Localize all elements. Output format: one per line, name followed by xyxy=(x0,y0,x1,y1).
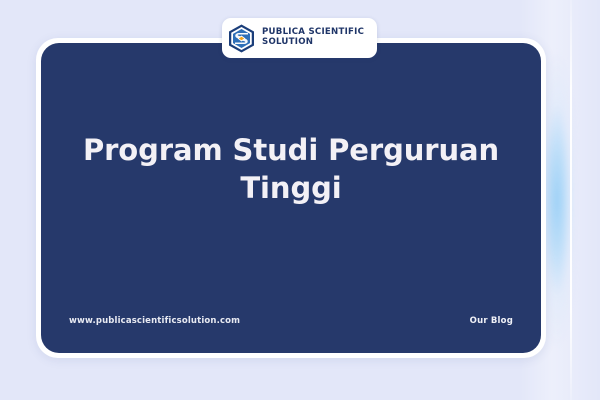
our-blog-link[interactable]: Our Blog xyxy=(470,316,513,326)
page-title: Program Studi Perguruan Tinggi xyxy=(75,131,507,208)
slide-canvas: Program Studi Perguruan Tinggi www.publi… xyxy=(0,0,600,400)
brand-name-line-2: SOLUTION xyxy=(262,38,364,48)
hexagon-swoosh-logo-icon xyxy=(228,24,255,53)
card-footer: www.publicascientificsolution.com Our Bl… xyxy=(41,297,541,353)
website-url[interactable]: www.publicascientificsolution.com xyxy=(69,316,240,326)
background-vertical-hairline xyxy=(570,0,572,400)
title-container: Program Studi Perguruan Tinggi xyxy=(41,43,541,295)
hero-card: Program Studi Perguruan Tinggi www.publi… xyxy=(41,43,541,353)
brand-logo-badge[interactable]: PUBLICA SCIENTIFIC SOLUTION xyxy=(222,18,377,58)
brand-name-block: PUBLICA SCIENTIFIC SOLUTION xyxy=(262,28,364,47)
